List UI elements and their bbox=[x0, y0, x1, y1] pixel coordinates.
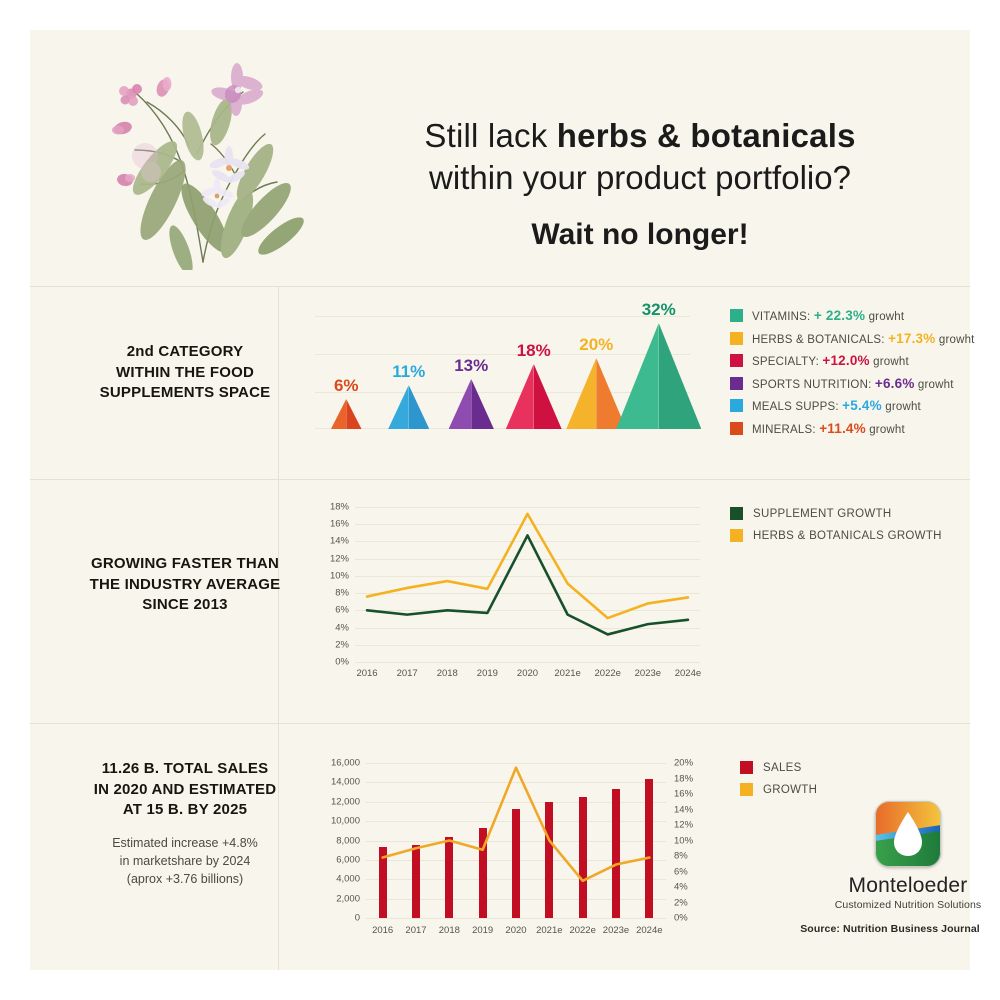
caption-line: WITHIN THE FOOD bbox=[70, 363, 300, 384]
y-axis-left-tick: 14,000 bbox=[331, 777, 360, 788]
legend-label: SALES bbox=[763, 762, 802, 774]
section-category-share: 2nd CATEGORYWITHIN THE FOODSUPPLEMENTS S… bbox=[30, 286, 970, 478]
line-series bbox=[367, 514, 688, 618]
caption-line: SINCE 2013 bbox=[70, 595, 300, 616]
legend-item: MEALS SUPPS: +5.4% growht bbox=[730, 398, 975, 413]
y-axis-tick: 2% bbox=[320, 639, 349, 650]
section3-caption: 11.26 B. TOTAL SALESIN 2020 AND ESTIMATE… bbox=[70, 759, 300, 888]
triangle-left-face bbox=[388, 385, 409, 429]
triangle-bar: 18% bbox=[506, 364, 562, 429]
legend-swatch bbox=[740, 761, 753, 774]
y-axis-tick: 16% bbox=[320, 519, 349, 530]
triangle-series: 6%11%13%18%20%32% bbox=[315, 329, 690, 429]
source-note: Source: Nutrition Business Journal bbox=[790, 923, 990, 935]
triangle-data-label: 20% bbox=[579, 335, 613, 355]
brand-name: Monteloeder bbox=[828, 874, 988, 898]
x-axis-tick: 2019 bbox=[472, 925, 493, 936]
triangle-right-face bbox=[659, 323, 702, 429]
y-axis-left-tick: 8,000 bbox=[336, 835, 360, 846]
legend-label: GROWTH bbox=[763, 784, 817, 796]
y-axis-right-tick: 20% bbox=[674, 758, 693, 769]
y-axis-left-tick: 4,000 bbox=[336, 874, 360, 885]
y-axis-right-tick: 2% bbox=[674, 897, 688, 908]
growth-legend: SUPPLEMENT GROWTHHERBS & BOTANICALS GROW… bbox=[730, 507, 942, 551]
section-sales: 11.26 B. TOTAL SALESIN 2020 AND ESTIMATE… bbox=[30, 723, 970, 970]
category-legend: VITAMINS: + 22.3% growhtHERBS & BOTANICA… bbox=[730, 308, 975, 443]
legend-item: SPORTS NUTRITION: +6.6% growht bbox=[730, 376, 975, 391]
caption-line: 2nd CATEGORY bbox=[70, 342, 300, 363]
legend-swatch bbox=[730, 377, 743, 390]
caption-line: 11.26 B. TOTAL SALES bbox=[70, 759, 300, 780]
section-growth-line: GROWING FASTER THANTHE INDUSTRY AVERAGES… bbox=[30, 479, 970, 722]
caption-line: THE INDUSTRY AVERAGE bbox=[70, 575, 300, 596]
y-axis-right-tick: 4% bbox=[674, 882, 688, 893]
x-axis-tick: 2020 bbox=[517, 668, 538, 679]
triangle-data-label: 13% bbox=[454, 356, 488, 376]
legend-item: SALES bbox=[740, 761, 817, 774]
y-axis-left-tick: 2,000 bbox=[336, 893, 360, 904]
y-axis-tick: 14% bbox=[320, 536, 349, 547]
legend-label: MINERALS: +11.4% growht bbox=[752, 421, 905, 436]
triangle-right-face bbox=[534, 364, 562, 429]
legend-swatch bbox=[730, 529, 743, 542]
x-axis-tick: 2020 bbox=[505, 925, 526, 936]
legend-swatch bbox=[730, 422, 743, 435]
y-axis-left-tick: 10,000 bbox=[331, 816, 360, 827]
y-axis-tick: 8% bbox=[320, 588, 349, 599]
legend-item: SUPPLEMENT GROWTH bbox=[730, 507, 942, 520]
hero-section: Still lack herbs & botanicals within you… bbox=[30, 30, 970, 285]
x-axis-tick: 2019 bbox=[477, 668, 498, 679]
y-axis-right-tick: 0% bbox=[674, 913, 688, 924]
x-axis-tick: 2021e bbox=[554, 668, 580, 679]
headline-line-2: within your product portfolio? bbox=[340, 157, 940, 199]
headline-plain: Still lack bbox=[424, 117, 556, 154]
caption-sub-line: Estimated increase +4.8% bbox=[70, 835, 300, 853]
x-axis-tick: 2024e bbox=[636, 925, 662, 936]
infographic-canvas: Still lack herbs & botanicals within you… bbox=[0, 0, 1000, 1000]
gridline bbox=[366, 918, 666, 919]
triangle-bar: 11% bbox=[388, 385, 429, 429]
growth-line-svg bbox=[366, 763, 666, 918]
triangle-data-label: 11% bbox=[392, 362, 425, 382]
y-axis-right-tick: 10% bbox=[674, 835, 693, 846]
sales-growth-chart: 02,0004,0006,0008,00010,00012,00014,0001… bbox=[366, 763, 666, 918]
caption-line: GROWING FASTER THAN bbox=[70, 554, 300, 575]
y-axis-right-tick: 8% bbox=[674, 851, 688, 862]
legend-label: SPECIALTY: +12.0% growht bbox=[752, 353, 909, 368]
y-axis-tick: 4% bbox=[320, 622, 349, 633]
caption-line: AT 15 B. BY 2025 bbox=[70, 800, 300, 821]
triangle-left-face bbox=[449, 379, 472, 429]
legend-label: VITAMINS: + 22.3% growht bbox=[752, 308, 904, 323]
legend-item: MINERALS: +11.4% growht bbox=[730, 421, 975, 436]
x-axis-tick: 2016 bbox=[356, 668, 377, 679]
x-axis-tick: 2018 bbox=[437, 668, 458, 679]
triangle-bar: 6% bbox=[331, 399, 362, 429]
x-axis-tick: 2017 bbox=[397, 668, 418, 679]
triangle-left-face bbox=[566, 358, 596, 429]
triangle-chart: 6%11%13%18%20%32% bbox=[315, 304, 690, 454]
x-axis-tick: 2023e bbox=[603, 925, 629, 936]
legend-label: MEALS SUPPS: +5.4% growht bbox=[752, 398, 921, 413]
legend-swatch bbox=[730, 309, 743, 322]
section1-caption: 2nd CATEGORYWITHIN THE FOODSUPPLEMENTS S… bbox=[70, 342, 300, 404]
monteloeder-logo-icon bbox=[875, 801, 941, 867]
triangle-left-face bbox=[506, 364, 534, 429]
headline-line-3: Wait no longer! bbox=[340, 218, 940, 252]
x-axis-tick: 2022e bbox=[595, 668, 621, 679]
x-axis-tick: 2021e bbox=[536, 925, 562, 936]
y-axis-right-tick: 12% bbox=[674, 820, 693, 831]
caption-sub-line: in marketshare by 2024 bbox=[70, 853, 300, 871]
y-axis-right-tick: 18% bbox=[674, 773, 693, 784]
brand-block: Monteloeder Customized Nutrition Solutio… bbox=[828, 801, 988, 911]
y-axis-left-tick: 12,000 bbox=[331, 796, 360, 807]
triangle-left-face bbox=[616, 323, 659, 429]
line-series bbox=[367, 535, 688, 634]
y-axis-left-tick: 16,000 bbox=[331, 758, 360, 769]
legend-swatch bbox=[730, 399, 743, 412]
y-axis-tick: 18% bbox=[320, 502, 349, 513]
caption-line: SUPPLEMENTS SPACE bbox=[70, 383, 300, 404]
growth-line-chart: 0%2%4%6%8%10%12%14%16%18%201620172018201… bbox=[320, 507, 700, 692]
x-axis-tick: 2017 bbox=[405, 925, 426, 936]
triangle-right-face bbox=[346, 399, 361, 429]
y-axis-tick: 12% bbox=[320, 553, 349, 564]
triangle-data-label: 32% bbox=[642, 300, 676, 320]
x-axis-tick: 2024e bbox=[675, 668, 701, 679]
y-axis-right-tick: 14% bbox=[674, 804, 693, 815]
y-axis-tick: 10% bbox=[320, 570, 349, 581]
y-axis-tick: 6% bbox=[320, 605, 349, 616]
caption-sub-line: (aprox +3.76 billions) bbox=[70, 871, 300, 889]
y-axis-left-tick: 6,000 bbox=[336, 854, 360, 865]
triangle-bar: 13% bbox=[449, 379, 494, 429]
y-axis-right-tick: 16% bbox=[674, 789, 693, 800]
legend-swatch bbox=[740, 783, 753, 796]
legend-label: HERBS & BOTANICALS GROWTH bbox=[753, 530, 942, 542]
legend-item: HERBS & BOTANICALS: +17.3% growht bbox=[730, 331, 975, 346]
legend-item: HERBS & BOTANICALS GROWTH bbox=[730, 529, 942, 542]
sales-legend: SALESGROWTH bbox=[740, 761, 817, 805]
legend-item: GROWTH bbox=[740, 783, 817, 796]
caption-line: IN 2020 AND ESTIMATED bbox=[70, 780, 300, 801]
triangle-bar: 32% bbox=[616, 323, 701, 429]
triangle-left-face bbox=[331, 399, 346, 429]
hero-headline: Still lack herbs & botanicals within you… bbox=[340, 115, 940, 252]
legend-label: SUPPLEMENT GROWTH bbox=[753, 508, 891, 520]
line-series-svg bbox=[320, 507, 700, 692]
x-axis-tick: 2016 bbox=[372, 925, 393, 936]
x-axis-tick: 2022e bbox=[569, 925, 595, 936]
legend-label: SPORTS NUTRITION: +6.6% growht bbox=[752, 376, 954, 391]
y-axis-tick: 0% bbox=[320, 657, 349, 668]
x-axis-tick: 2023e bbox=[635, 668, 661, 679]
y-axis-right-tick: 6% bbox=[674, 866, 688, 877]
brand-tagline: Customized Nutrition Solutions bbox=[828, 899, 988, 911]
triangle-data-label: 6% bbox=[334, 376, 359, 396]
triangle-data-label: 18% bbox=[517, 341, 551, 361]
legend-item: VITAMINS: + 22.3% growht bbox=[730, 308, 975, 323]
triangle-right-face bbox=[409, 385, 430, 429]
triangle-right-face bbox=[471, 379, 494, 429]
section2-caption: GROWING FASTER THANTHE INDUSTRY AVERAGES… bbox=[70, 554, 300, 616]
x-axis-tick: 2018 bbox=[439, 925, 460, 936]
legend-item: SPECIALTY: +12.0% growht bbox=[730, 353, 975, 368]
legend-label: HERBS & BOTANICALS: +17.3% growht bbox=[752, 331, 975, 346]
legend-swatch bbox=[730, 507, 743, 520]
botanical-illustration bbox=[85, 50, 315, 270]
headline-line-1: Still lack herbs & botanicals bbox=[340, 115, 940, 157]
headline-bold: herbs & botanicals bbox=[557, 117, 856, 154]
legend-swatch bbox=[730, 332, 743, 345]
growth-line-series bbox=[383, 768, 650, 881]
y-axis-left-tick: 0 bbox=[355, 913, 360, 924]
legend-swatch bbox=[730, 354, 743, 367]
caption-subtext: Estimated increase +4.8%in marketshare b… bbox=[70, 835, 300, 888]
